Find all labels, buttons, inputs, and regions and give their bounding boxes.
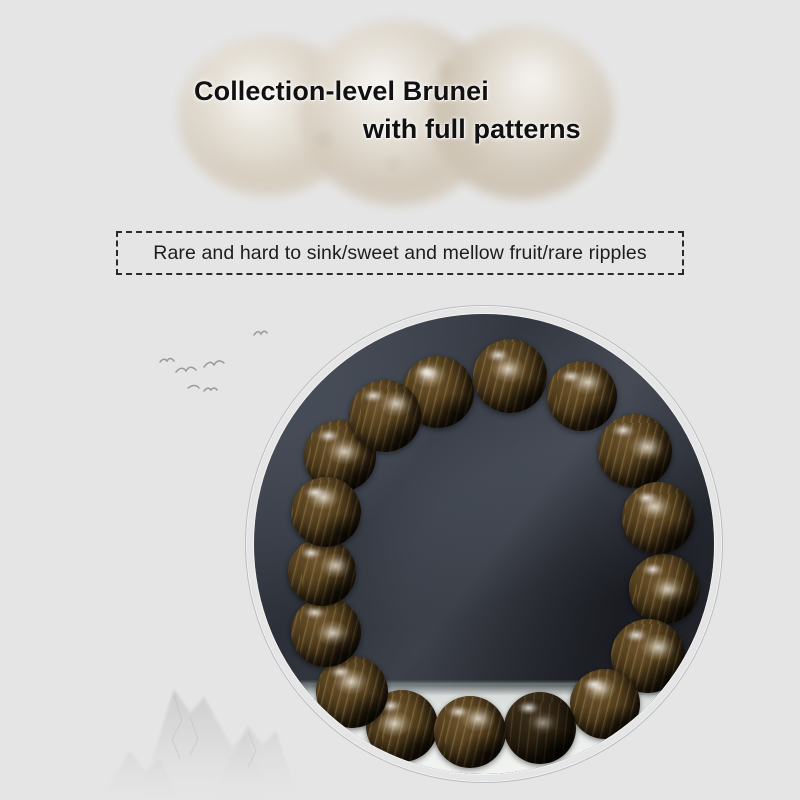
bead — [504, 692, 576, 764]
subtitle-dashed-box: Rare and hard to sink/sweet and mellow f… — [116, 231, 684, 275]
bead — [434, 696, 506, 768]
bead — [547, 361, 617, 431]
bead — [291, 597, 361, 667]
bead — [570, 669, 640, 739]
title-line-1: Collection-level Brunei — [120, 72, 640, 110]
bead — [288, 538, 356, 606]
product-photo-circle[interactable] — [245, 305, 723, 783]
title-line-2: with full patterns — [120, 110, 640, 148]
subtitle-text: Rare and hard to sink/sweet and mellow f… — [153, 242, 646, 265]
product-banner-page: Collection-level Brunei with full patter… — [0, 0, 800, 800]
bead — [291, 477, 361, 547]
bead — [473, 339, 547, 413]
product-photo-disc — [254, 314, 714, 774]
bead-bracelet — [254, 314, 714, 774]
bead — [622, 482, 694, 554]
page-title: Collection-level Brunei with full patter… — [120, 72, 640, 148]
bead — [349, 380, 421, 452]
bead — [598, 414, 672, 488]
bead — [629, 554, 699, 624]
